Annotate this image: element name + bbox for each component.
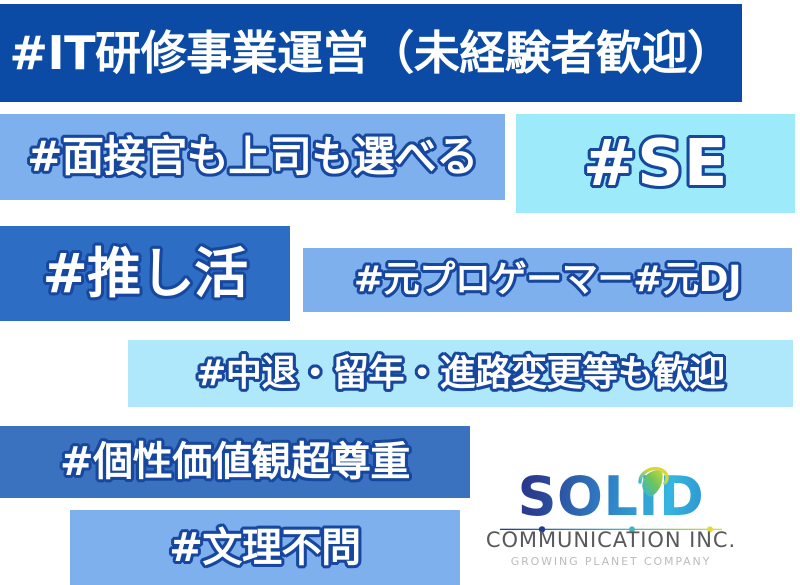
- hashtag-text-kosei: #個性価値観超尊重: [60, 442, 410, 482]
- company-logo: SOLID: [482, 460, 740, 578]
- hashtag-bar-gamer: #元プロゲーマー#元DJ: [303, 248, 792, 312]
- hashtag-bar-it: #IT研修事業運営（未経験者歓迎）: [0, 4, 742, 102]
- hashtag-bar-oshi: #推し活: [0, 226, 290, 321]
- hashtag-text-bunri: #文理不問: [169, 528, 361, 568]
- leaf-orbit-icon: [634, 466, 670, 500]
- poster-canvas: #IT研修事業運営（未経験者歓迎） #面接官も上司も選べる #SE #推し活 #…: [0, 0, 800, 585]
- hashtag-bar-chutai: #中退・留年・進路変更等も歓迎: [128, 340, 793, 407]
- hashtag-text-gamer: #元プロゲーマー#元DJ: [354, 262, 741, 298]
- logo-wordmark: SOLID: [482, 470, 740, 524]
- hashtag-bar-se: #SE: [516, 114, 795, 213]
- hashtag-text-mensetsu: #面接官も上司も選べる: [27, 136, 478, 178]
- logo-tagline: GROWING PLANET COMPANY: [482, 555, 740, 568]
- hashtag-bar-bunri: #文理不問: [70, 510, 460, 585]
- hashtag-text-chutai: #中退・留年・進路変更等も歓迎: [196, 356, 725, 392]
- hashtag-text-oshi: #推し活: [42, 247, 247, 301]
- hashtag-text-it: #IT研修事業運営（未経験者歓迎）: [9, 30, 732, 76]
- hashtag-bar-mensetsu: #面接官も上司も選べる: [0, 114, 505, 200]
- hashtag-text-se: #SE: [583, 132, 728, 196]
- logo-subtitle: COMMUNICATION INC.: [482, 528, 740, 553]
- hashtag-bar-kosei: #個性価値観超尊重: [0, 426, 470, 498]
